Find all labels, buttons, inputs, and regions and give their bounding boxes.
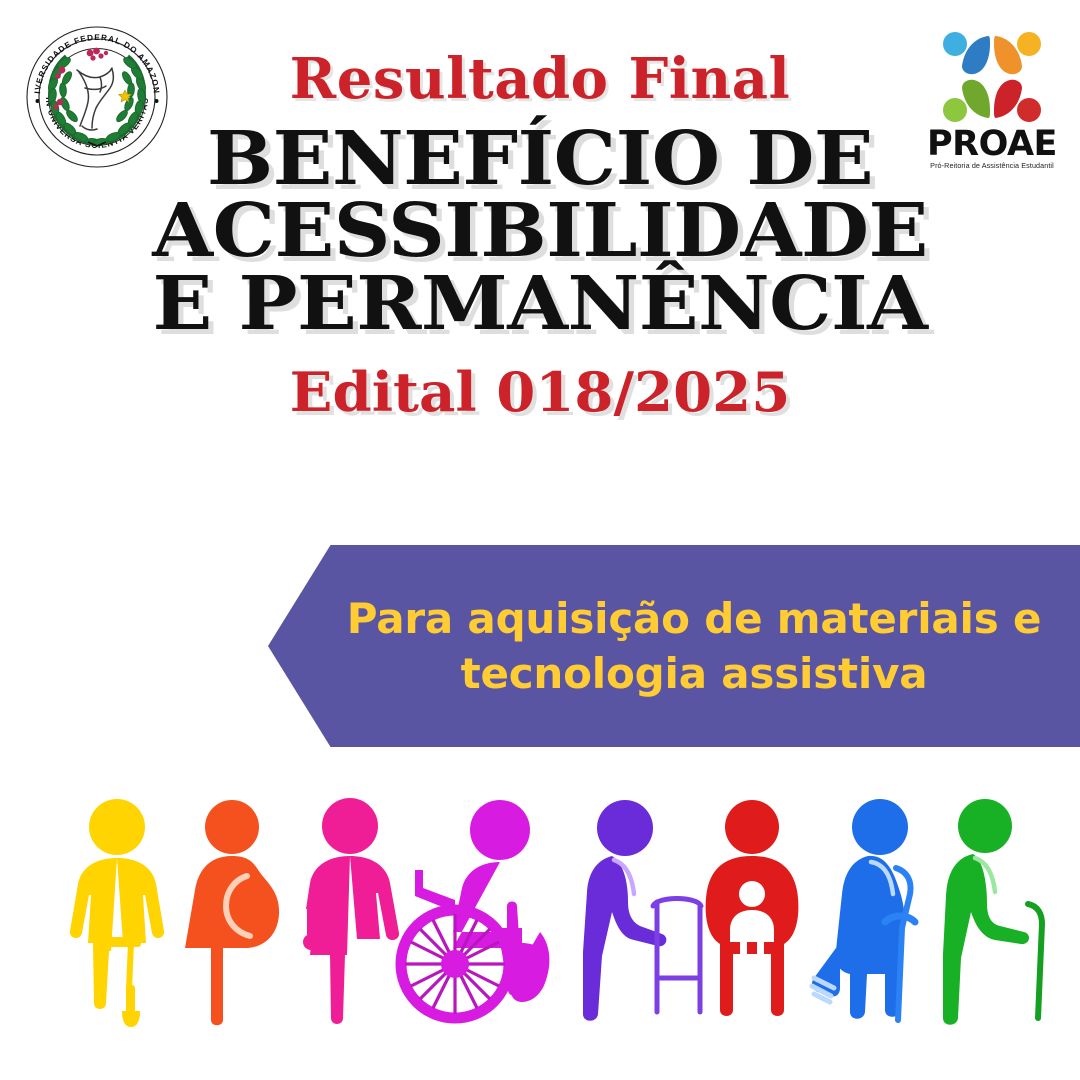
walker-frame-icon <box>653 899 701 1013</box>
figure-wheelchair-user <box>401 800 549 1018</box>
cane-icon <box>1028 904 1042 1018</box>
edital-number: Edital 018/2025 <box>0 360 1080 424</box>
figure-person-with-prosthetic-leg <box>70 799 164 1027</box>
figure-elderly-person-with-cane <box>943 799 1042 1025</box>
banner-line-1: Para aquisição de materiais e <box>347 591 1041 646</box>
figure-person-with-limb-difference <box>303 798 399 1024</box>
subtitle-banner: Para aquisição de materiais e tecnologia… <box>268 545 1080 747</box>
accessibility-figures-illustration <box>0 782 1080 1032</box>
kicker-heading: Resultado Final <box>0 50 1080 109</box>
figure-person-with-walker <box>583 800 701 1021</box>
title-line-1: BENEFÍCIO DE <box>0 123 1080 196</box>
figure-person-with-crutch <box>812 799 915 1020</box>
poster-canvas: UNIVERSIDADE FEDERAL DO AMAZONAS IN UNIV… <box>0 0 1080 1080</box>
banner-line-2: tecnologia assistiva <box>461 646 928 701</box>
figure-pregnant-woman <box>185 800 279 1025</box>
title-line-3: E PERMANÊNCIA <box>0 268 1080 341</box>
banner-text: Para aquisição de materiais e tecnologia… <box>344 545 1044 747</box>
title-block: Resultado Final BENEFÍCIO DE ACESSIBILID… <box>0 50 1080 424</box>
figure-parent-carrying-baby <box>706 800 799 1016</box>
page-title: BENEFÍCIO DE ACESSIBILIDADE E PERMANÊNCI… <box>0 123 1080 341</box>
title-line-2: ACESSIBILIDADE <box>0 195 1080 268</box>
